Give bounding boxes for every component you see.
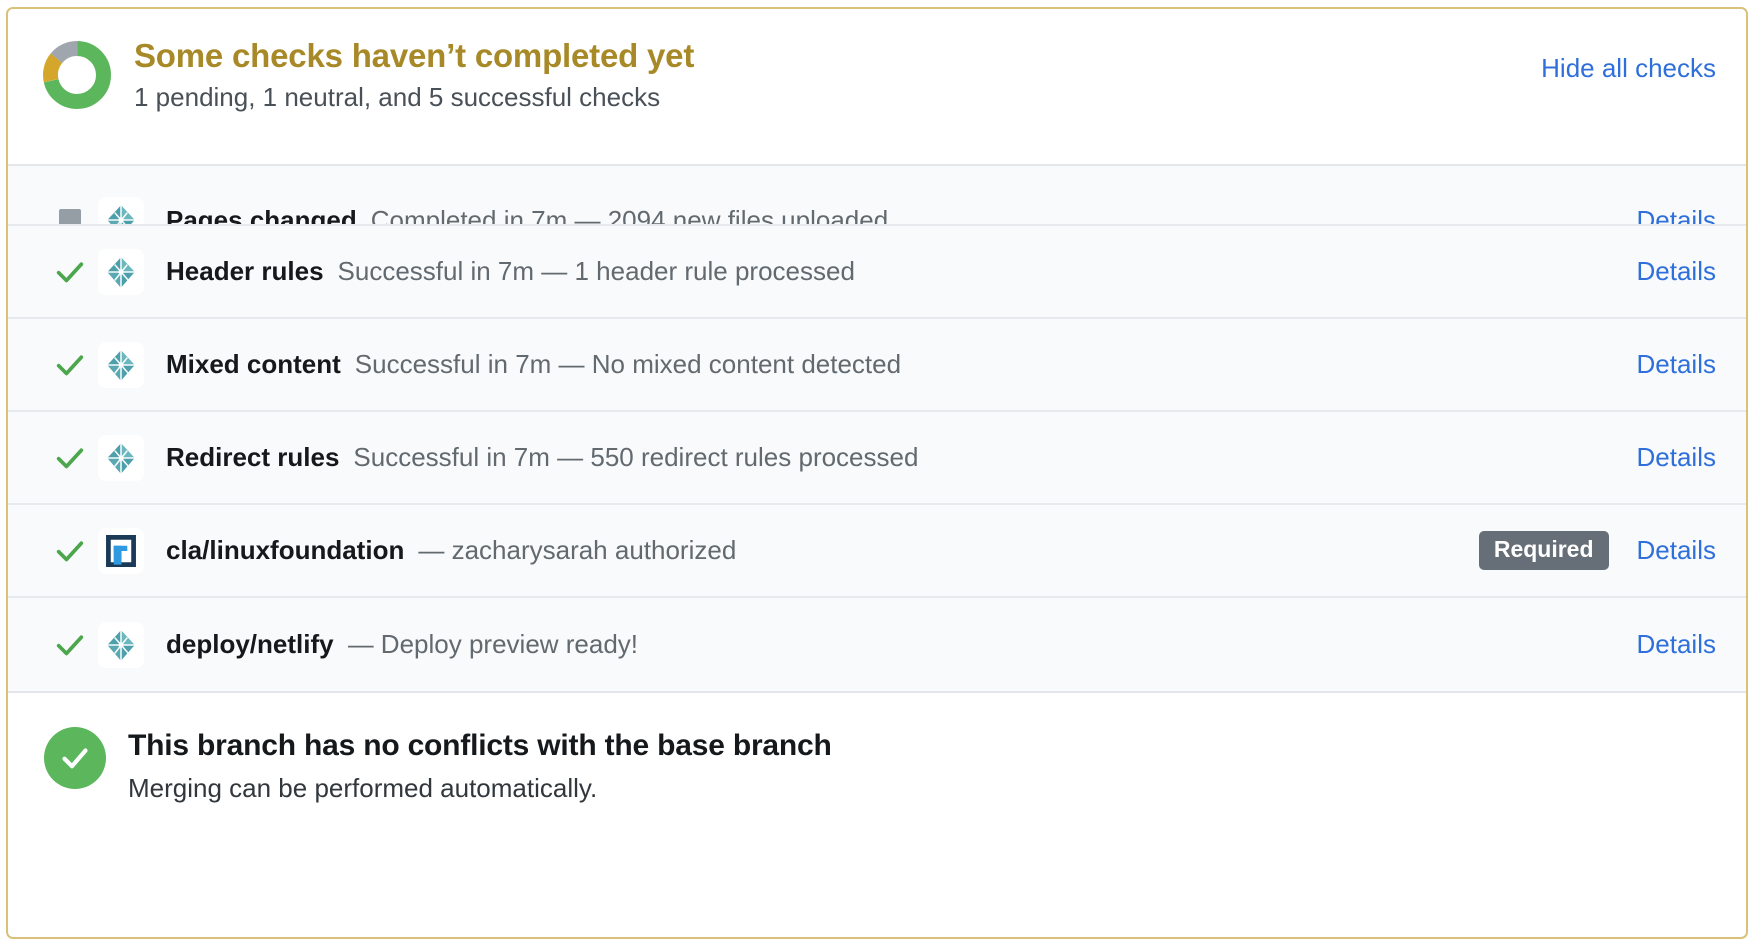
merge-status-box: Some checks haven’t completed yet 1 pend…	[6, 7, 1748, 939]
netlify-icon	[98, 249, 144, 295]
check-name: Pages changed	[166, 205, 357, 227]
check-name: Header rules	[166, 256, 324, 287]
check-row[interactable]: Mixed content Successful in 7m — No mixe…	[8, 319, 1746, 412]
check-row[interactable]: Pages changed Completed in 7m — 2094 new…	[8, 166, 1746, 226]
check-row[interactable]: Redirect rules Successful in 7m — 550 re…	[8, 412, 1746, 505]
checks-status-text: Some checks haven’t completed yet 1 pend…	[134, 35, 1712, 113]
merge-conflicts-text: This branch has no conflicts with the ba…	[128, 725, 832, 804]
required-badge: Required	[1479, 531, 1609, 570]
pull-request-merge-box-screen: Some checks haven’t completed yet 1 pend…	[0, 0, 1754, 946]
netlify-icon	[98, 342, 144, 388]
check-details-link[interactable]: Details	[1637, 629, 1716, 660]
check-description: — Deploy preview ready!	[348, 629, 638, 660]
success-status-icon	[42, 255, 98, 289]
checks-donut-chart-icon	[42, 40, 112, 110]
check-details-link[interactable]: Details	[1637, 205, 1716, 227]
check-details-link[interactable]: Details	[1637, 256, 1716, 287]
check-description: — zacharysarah authorized	[418, 535, 736, 566]
netlify-icon	[98, 197, 144, 226]
check-row[interactable]: cla/linuxfoundation — zacharysarah autho…	[8, 505, 1746, 598]
success-check-circle-icon	[44, 727, 106, 789]
check-description: Successful in 7m — No mixed content dete…	[355, 349, 901, 380]
netlify-icon	[98, 622, 144, 668]
check-details-link[interactable]: Details	[1637, 535, 1716, 566]
check-row[interactable]: Header rules Successful in 7m — 1 header…	[8, 226, 1746, 319]
check-name: Mixed content	[166, 349, 341, 380]
merge-conflicts-title: This branch has no conflicts with the ba…	[128, 727, 832, 765]
check-details-link[interactable]: Details	[1637, 442, 1716, 473]
check-row[interactable]: deploy/netlify — Deploy preview ready! D…	[8, 598, 1746, 691]
check-name: deploy/netlify	[166, 629, 334, 660]
checks-status-header: Some checks haven’t completed yet 1 pend…	[8, 9, 1746, 164]
check-description: Completed in 7m — 2094 new files uploade…	[371, 205, 888, 227]
hide-all-checks-link[interactable]: Hide all checks	[1541, 53, 1716, 84]
merge-conflicts-status: This branch has no conflicts with the ba…	[8, 693, 1746, 838]
neutral-status-icon	[42, 209, 98, 226]
netlify-icon	[98, 435, 144, 481]
success-status-icon	[42, 534, 98, 568]
checks-list: Pages changed Completed in 7m — 2094 new…	[8, 164, 1746, 693]
check-details-link[interactable]: Details	[1637, 349, 1716, 380]
checks-status-summary: 1 pending, 1 neutral, and 5 successful c…	[134, 82, 1712, 113]
checks-status-title: Some checks haven’t completed yet	[134, 36, 1712, 76]
success-status-icon	[42, 628, 98, 662]
check-name: Redirect rules	[166, 442, 339, 473]
merge-conflicts-subtitle: Merging can be performed automatically.	[128, 773, 832, 804]
check-description: Successful in 7m — 1 header rule process…	[338, 256, 855, 287]
success-status-icon	[42, 441, 98, 475]
success-status-icon	[42, 348, 98, 382]
check-name: cla/linuxfoundation	[166, 535, 404, 566]
linuxfoundation-icon	[98, 528, 144, 574]
check-description: Successful in 7m — 550 redirect rules pr…	[353, 442, 918, 473]
